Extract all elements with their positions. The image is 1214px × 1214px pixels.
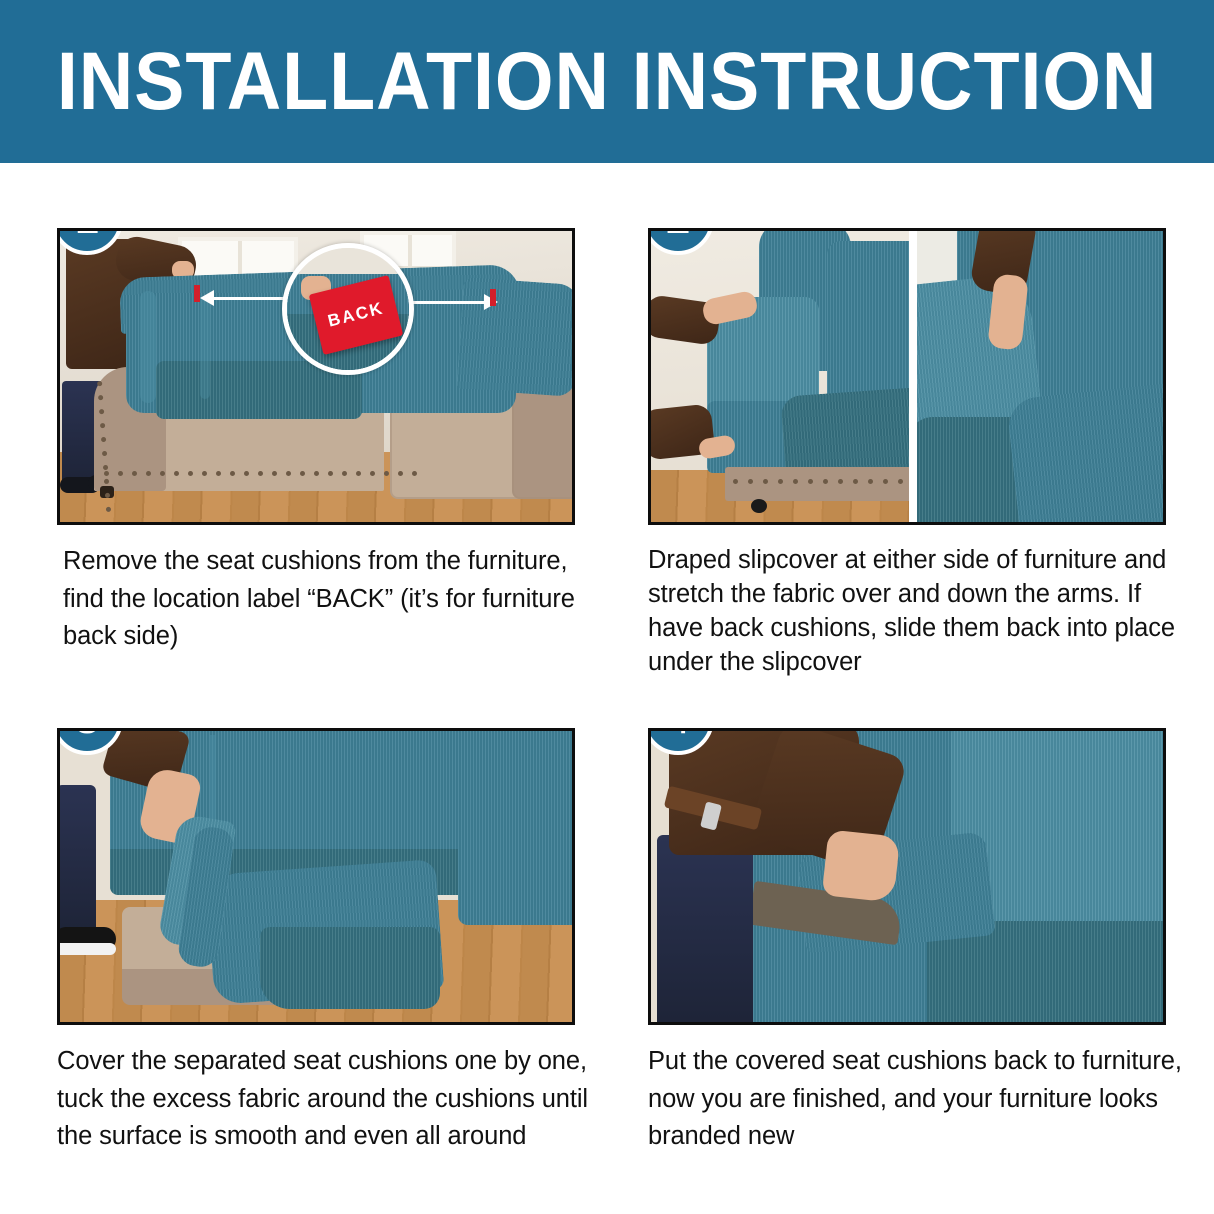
back-label-zoom-inset: BACK: [282, 243, 414, 375]
step-2-photo: 2: [648, 228, 1166, 525]
back-tab-left: [194, 285, 200, 302]
page-title: INSTALLATION INSTRUCTION: [57, 41, 1157, 123]
instruction-infographic: INSTALLATION INSTRUCTION: [0, 0, 1214, 1214]
step-1-photo: BACK 1: [57, 228, 575, 525]
header-banner: INSTALLATION INSTRUCTION: [0, 0, 1214, 163]
step-4-scene: [651, 731, 1163, 1022]
step-2-caption: Draped slipcover at either side of furni…: [648, 543, 1188, 680]
step-4-photo: 4: [648, 728, 1166, 1025]
back-label-text: BACK: [326, 298, 386, 331]
step-4: 4 Put the covered seat cushions back to …: [648, 728, 1166, 1156]
step-4-number: 4: [665, 728, 691, 740]
step-2: 2 Draped slipcover at either side of fur…: [648, 228, 1166, 680]
step-1-number: 1: [74, 228, 100, 240]
step-2-photo-divider: [909, 231, 917, 522]
step-3-caption: Cover the separated seat cushions one by…: [57, 1043, 597, 1156]
steps-grid: BACK 1 Remove the seat cushions from the…: [0, 163, 1214, 1214]
step-3-scene: [60, 731, 572, 1022]
step-2-scene-right: [917, 231, 1163, 522]
step-2-scene-left: [651, 231, 909, 522]
step-1: BACK 1 Remove the seat cushions from the…: [57, 228, 575, 656]
step-3-photo: 3: [57, 728, 575, 1025]
step-2-number: 2: [665, 228, 691, 240]
back-tab-right: [490, 289, 496, 306]
step-3-number: 3: [74, 728, 100, 740]
step-4-caption: Put the covered seat cushions back to fu…: [648, 1043, 1188, 1156]
step-1-caption: Remove the seat cushions from the furnit…: [57, 543, 597, 656]
arrow-left: [210, 297, 286, 300]
step-1-scene: BACK: [60, 231, 572, 522]
step-3: 3 Cover the separated seat cushions one …: [57, 728, 575, 1156]
arrow-head-left: [200, 290, 214, 306]
